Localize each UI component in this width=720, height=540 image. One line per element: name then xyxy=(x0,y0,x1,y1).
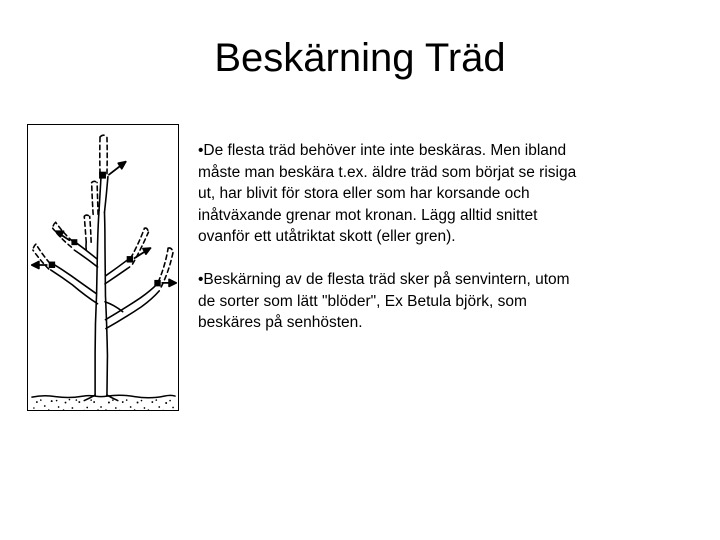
branch-lower-left-bottom xyxy=(51,270,98,304)
bullet-paragraph-2: •Beskärning av de flesta träd sker på se… xyxy=(198,269,588,334)
tree-pruning-figure xyxy=(27,124,179,411)
slide: Beskärning Träd xyxy=(0,0,720,540)
branch-upper-right-bottom xyxy=(105,267,130,284)
removal-center-left-b xyxy=(97,183,98,215)
cut-mark-upper-right xyxy=(127,256,133,262)
removal-upper-right-tip xyxy=(144,228,148,232)
body-text-column: •De flesta träd behöver inte inte beskär… xyxy=(198,140,588,334)
removal-leader-tip xyxy=(100,135,107,137)
branch-mid-left-bottom xyxy=(74,250,97,267)
soil-stipple xyxy=(33,399,174,410)
removal-center-left-a xyxy=(92,183,93,215)
removal-left-stub-b xyxy=(90,216,91,242)
bullet-paragraph-1: •De flesta träd behöver inte inte beskär… xyxy=(198,140,588,248)
arrow-left-lower xyxy=(32,262,47,269)
removal-mid-left-tip xyxy=(53,222,56,228)
trunk-right-edge xyxy=(104,212,107,395)
page-title: Beskärning Träd xyxy=(60,34,660,82)
inner-shoot-right xyxy=(105,302,123,312)
branch-lower-right-bottom xyxy=(106,291,159,329)
removal-center-left-tip xyxy=(92,181,97,182)
removal-lower-right-tip xyxy=(168,248,173,252)
branch-upper-right-top xyxy=(105,259,128,276)
removal-left-stub-a xyxy=(84,216,86,242)
removal-left-stub-tip xyxy=(84,215,89,216)
removal-lower-right-a xyxy=(158,248,168,282)
arrow-up-right-mid xyxy=(135,248,151,258)
leader-left-edge xyxy=(99,177,101,211)
removal-lower-left-tip xyxy=(33,244,36,250)
tree-pruning-illustration xyxy=(28,125,178,410)
branch-lower-left-top xyxy=(52,263,97,294)
cut-mark-lower-right xyxy=(154,280,160,286)
leader-right-edge xyxy=(104,177,107,213)
arrow-up-right-top xyxy=(109,162,126,175)
removal-lower-left-a xyxy=(36,244,50,263)
ground-line xyxy=(32,395,175,398)
